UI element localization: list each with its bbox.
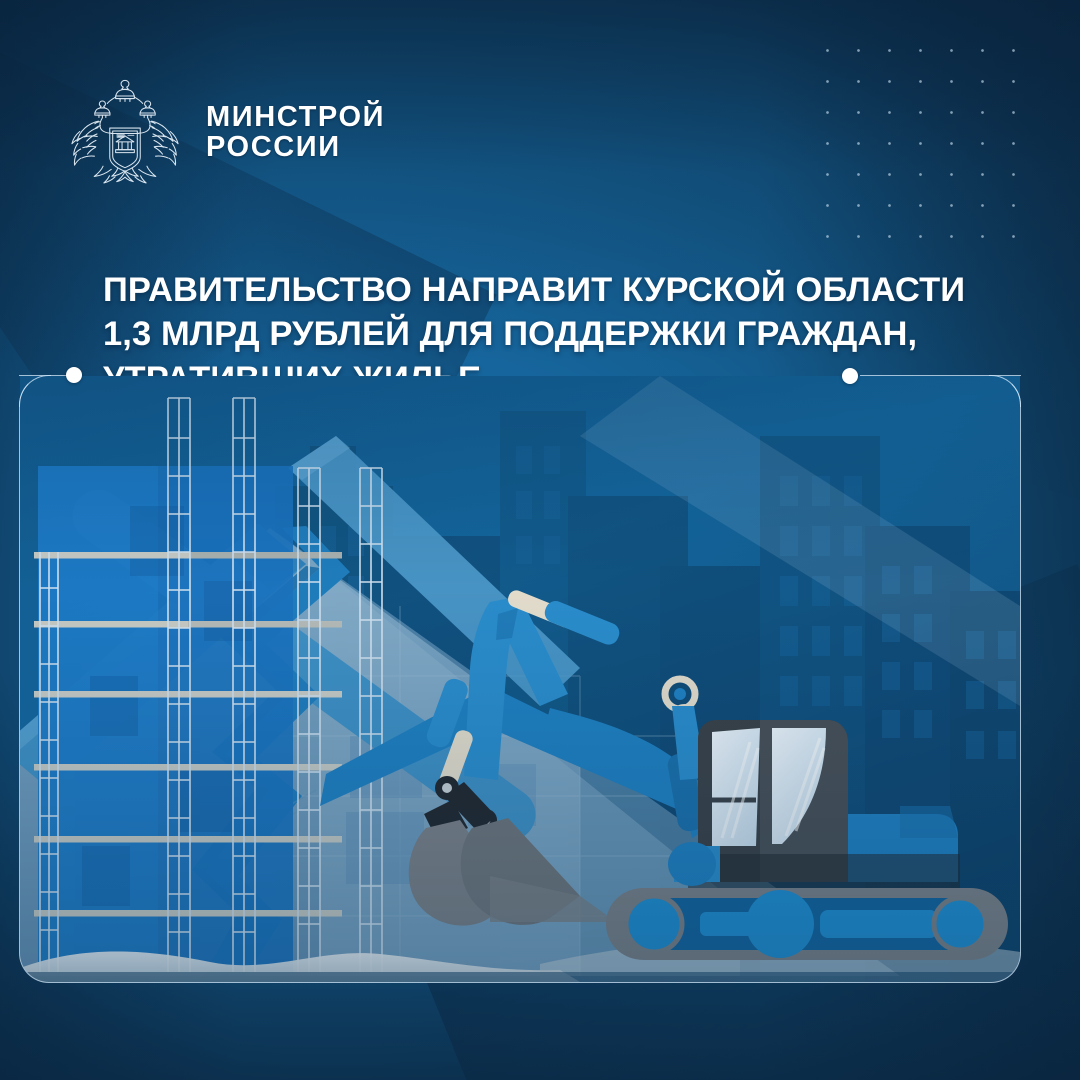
headline-line-2: 1,3 МЛРД РУБЛЕЙ ДЛЯ ПОДДЕРЖКИ ГРАЖДАН,: [103, 312, 983, 356]
brand-line-2: РОССИИ: [206, 132, 385, 162]
headline-line-1: ПРАВИТЕЛЬСТВО НАПРАВИТ КУРСКОЙ ОБЛАСТИ: [103, 268, 983, 312]
brand-logo: МИНСТРОЙ РОССИИ: [66, 72, 385, 192]
russian-double-headed-eagle-emblem: [66, 72, 184, 192]
brand-line-1: МИНСТРОЙ: [206, 102, 385, 132]
content-frame: [19, 375, 1021, 983]
frame-terminal-dot-left: [66, 367, 82, 383]
dot-grid-pattern: [806, 29, 1026, 249]
poster-canvas: МИНСТРОЙ РОССИИ ПРАВИТЕЛЬСТВО НАПРАВИТ К…: [0, 0, 1080, 1080]
brand-name: МИНСТРОЙ РОССИИ: [206, 102, 385, 162]
frame-terminal-dot-right: [842, 368, 858, 384]
